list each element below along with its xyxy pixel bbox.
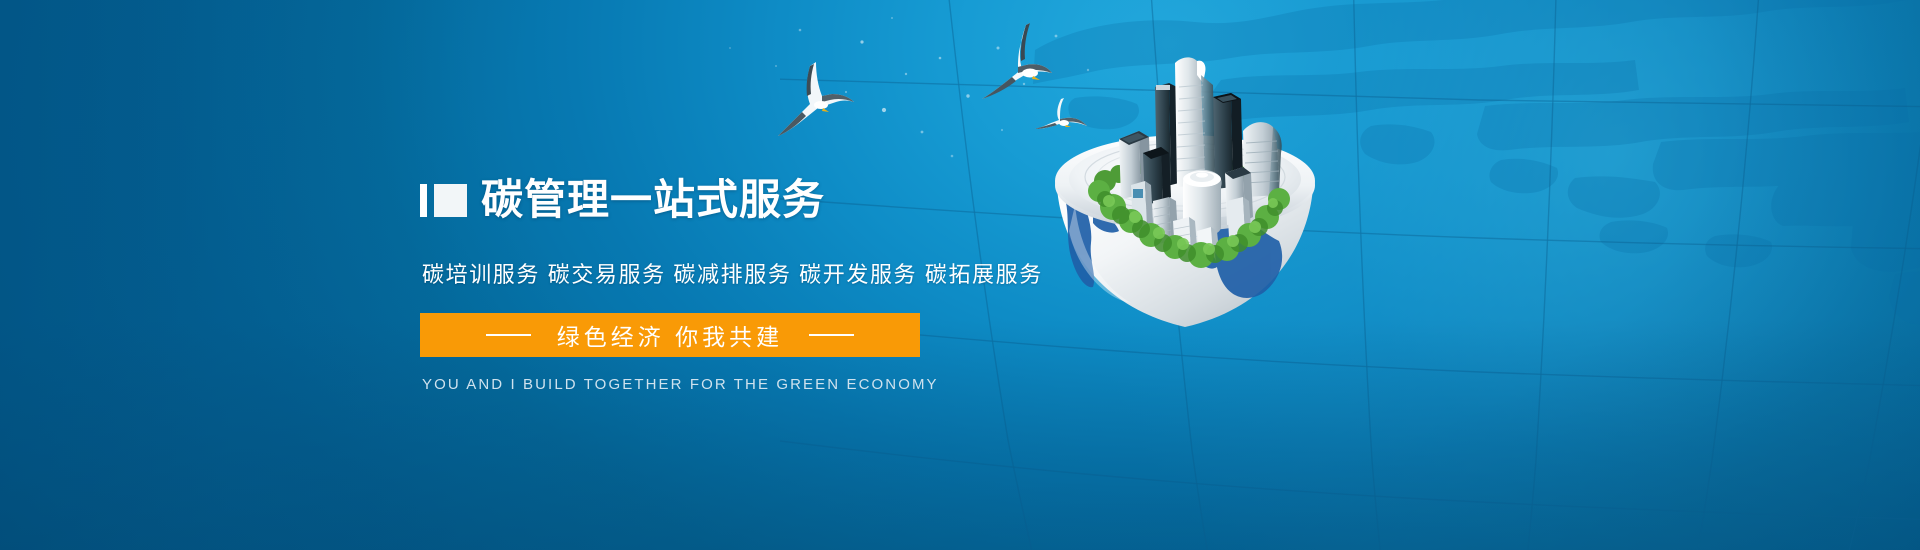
slogan-badge: 绿色经济 你我共建 [420, 313, 920, 357]
mark-bar [420, 184, 427, 217]
dash-right-icon [809, 334, 854, 336]
title-row: 碳管理一站式服务 [420, 150, 1100, 251]
banner-copy: 碳管理一站式服务 碳培训服务 碳交易服务 碳减排服务 碳开发服务 碳拓展服务 绿… [420, 150, 1100, 393]
slogan-english: YOU AND I BUILD TOGETHER FOR THE GREEN E… [422, 376, 1100, 393]
page-title: 碳管理一站式服务 [481, 178, 825, 223]
seagull-icon [766, 50, 876, 145]
service-list: 碳培训服务 碳交易服务 碳减排服务 碳开发服务 碳拓展服务 [422, 257, 1100, 289]
slogan-text: 绿色经济 你我共建 [557, 318, 783, 352]
dash-left-icon [486, 334, 531, 336]
hero-banner: 碳管理一站式服务 碳培训服务 碳交易服务 碳减排服务 碳开发服务 碳拓展服务 绿… [0, 0, 1920, 550]
mark-square [434, 184, 467, 217]
bar-square-mark-icon [420, 184, 467, 217]
